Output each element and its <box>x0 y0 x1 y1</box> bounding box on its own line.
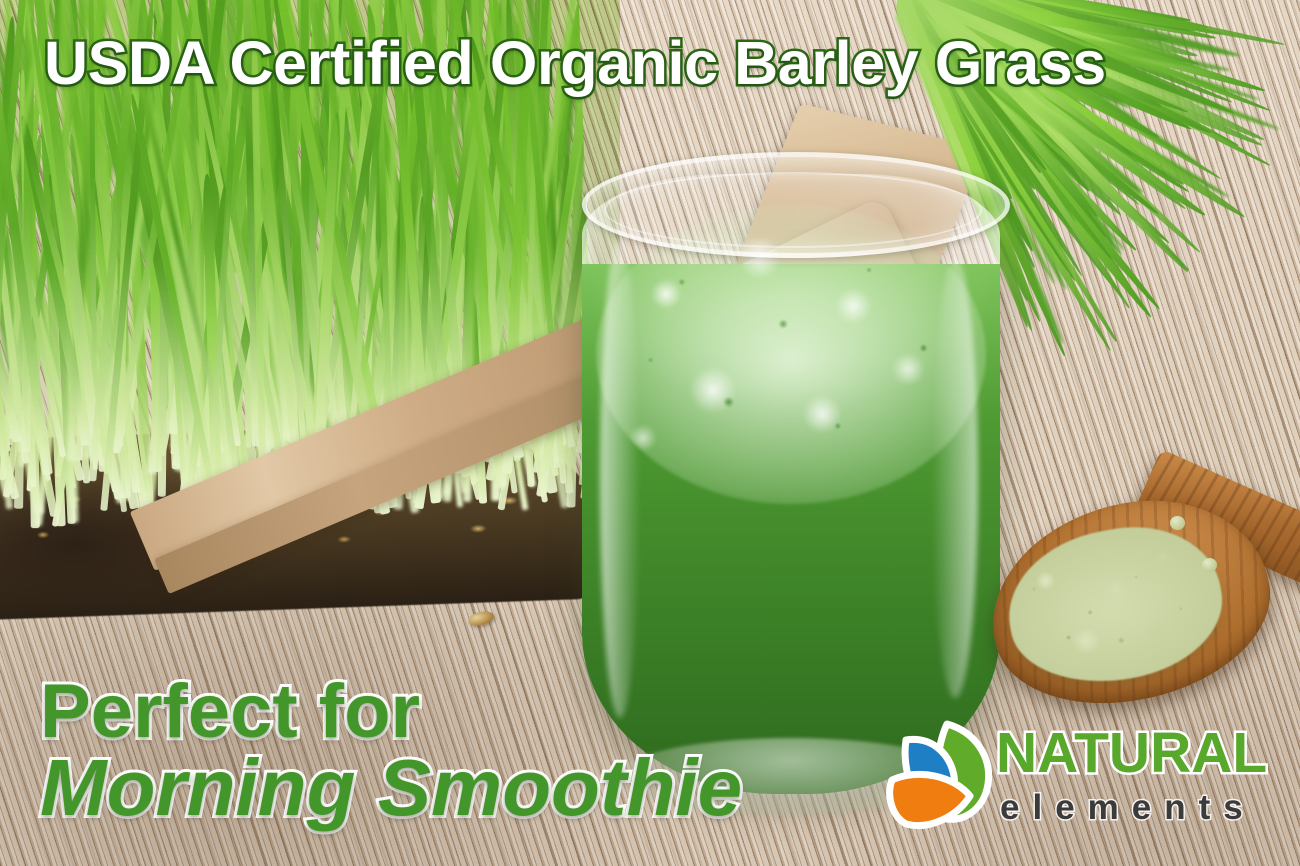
brand-logo[interactable]: NATURAL elements <box>884 718 1284 844</box>
glass-highlight-left <box>600 238 640 718</box>
three-leaf-icon <box>884 718 1008 836</box>
brand-subtitle: elements <box>1000 788 1256 828</box>
glass-rim-inner <box>604 172 982 248</box>
powder-clump <box>1170 516 1185 530</box>
brand-name: NATURAL <box>996 720 1267 786</box>
glass-highlight-right <box>932 258 978 698</box>
powder-clump <box>1202 558 1217 572</box>
wheatgrass-tray <box>0 0 602 691</box>
page-title: USDA Certified Organic Barley Grass <box>44 28 1106 98</box>
product-banner: USDA Certified Organic Barley Grass Perf… <box>0 0 1300 866</box>
tagline-line-2: Morning Smoothie <box>40 742 742 834</box>
